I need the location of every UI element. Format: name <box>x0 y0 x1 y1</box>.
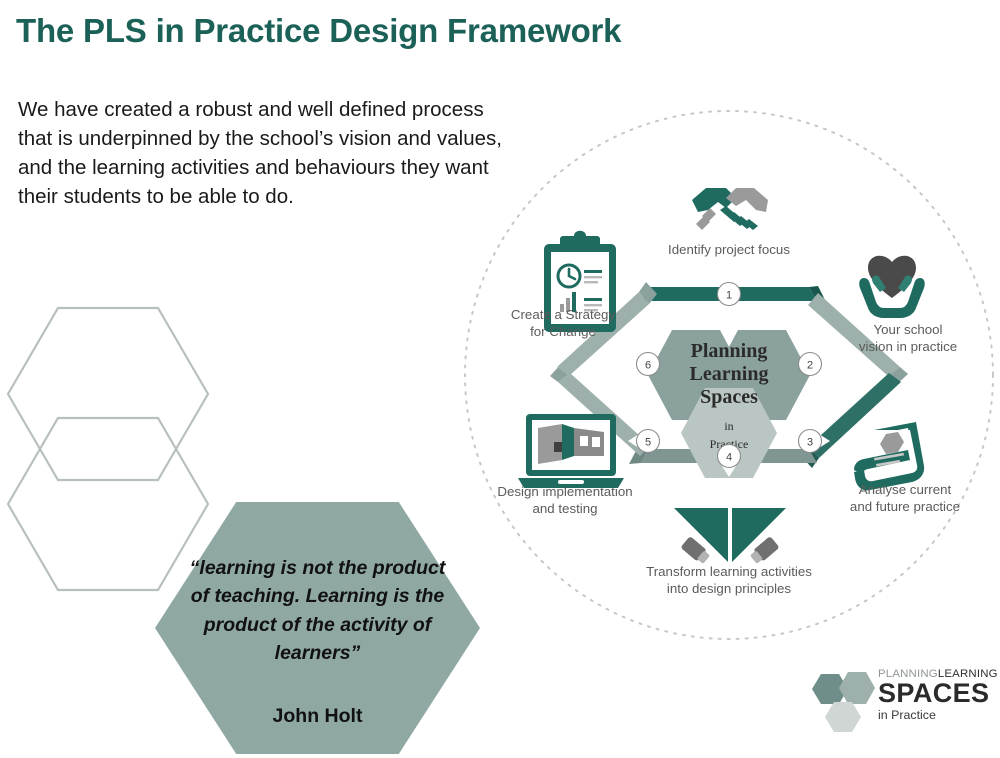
step-badge-6: 6 <box>628 353 660 376</box>
step-label-6: Create a Strategy for Change <box>473 307 653 341</box>
page-title: The PLS in Practice Design Framework <box>16 12 621 50</box>
hands-heart-icon <box>859 256 925 318</box>
intro-paragraph: We have created a robust and well define… <box>18 95 518 211</box>
laptop-room-icon <box>518 414 624 488</box>
step-label-5: Design implementation and testing <box>455 484 675 518</box>
logo-wordmark: PLANNINGLEARNING SPACES in Practice <box>878 669 998 723</box>
logo-word-in-practice: in Practice <box>878 709 998 723</box>
step-label-1: Identify project focus <box>609 242 849 259</box>
svg-text:6: 6 <box>645 360 651 372</box>
svg-text:3: 3 <box>807 437 813 449</box>
arrows-transform-icon <box>674 508 786 565</box>
svg-text:4: 4 <box>726 452 732 464</box>
handshake-icon <box>692 188 768 230</box>
pls-logo: PLANNINGLEARNING SPACES in Practice <box>812 664 988 738</box>
svg-text:1: 1 <box>726 290 732 302</box>
svg-text:in: in <box>724 419 733 433</box>
svg-text:2: 2 <box>807 360 813 372</box>
step-label-2: Your school vision in practice <box>813 322 1000 356</box>
step-label-4: Transform learning activities into desig… <box>584 564 874 598</box>
step-badge-1: 1 <box>718 274 741 306</box>
step-badge-2: 2 <box>799 353 831 376</box>
pls-framework-diagram: Planning Learning Spaces in Practice 1 2 <box>458 104 1000 646</box>
logo-word-spaces: SPACES <box>878 680 998 708</box>
book-hexagon-icon <box>854 422 924 490</box>
quote-hexagon: “learning is not the product of teaching… <box>155 502 480 754</box>
svg-text:Planning: Planning <box>691 340 768 362</box>
slide-canvas: The PLS in Practice Design Framework We … <box>0 0 1000 758</box>
svg-text:Spaces: Spaces <box>700 386 758 408</box>
svg-text:5: 5 <box>645 437 651 449</box>
quote-author: John Holt <box>155 705 480 728</box>
svg-text:Learning: Learning <box>690 363 769 385</box>
logo-hexagons <box>812 664 876 734</box>
quote-text: “learning is not the product of teaching… <box>155 554 480 667</box>
step-label-3: Analyse current and future practice <box>805 482 1000 516</box>
